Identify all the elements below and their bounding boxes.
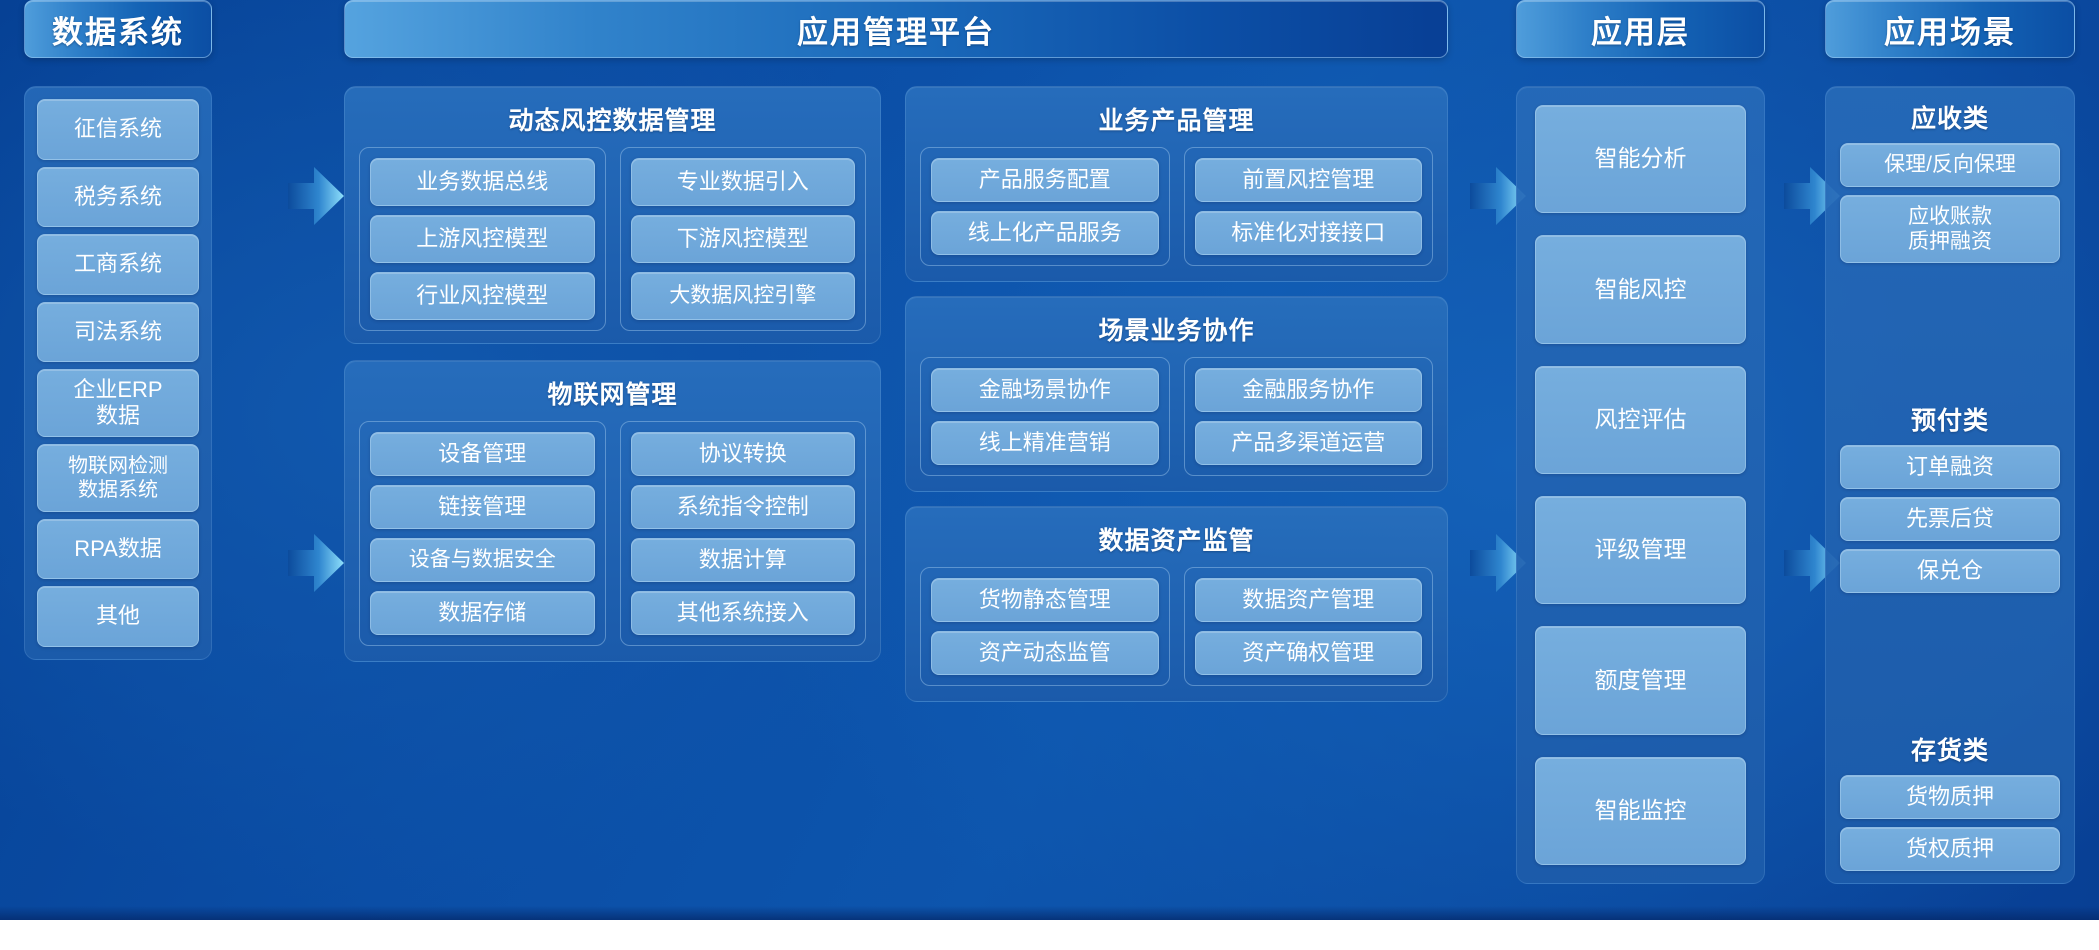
list-item[interactable]: 智能监控 <box>1535 757 1746 865</box>
list-item[interactable]: 产品服务配置 <box>931 158 1159 202</box>
list-item[interactable]: 保兑仓 <box>1840 549 2060 593</box>
list-item[interactable]: 系统指令控制 <box>631 485 856 529</box>
list-item[interactable]: 链接管理 <box>370 485 595 529</box>
module-group-right: 协议转换 系统指令控制 数据计算 其他系统接入 <box>620 421 867 646</box>
module-scenario-business-collaboration: 场景业务协作 金融场景协作 线上精准营销 金融服务协作 产品多渠道运营 <box>905 296 1448 492</box>
module-title: 数据资产监管 <box>920 521 1433 557</box>
scenario-section-inventory: 存货类 货物质押 货权质押 <box>1840 731 2060 871</box>
list-item[interactable]: 线上化产品服务 <box>931 211 1159 255</box>
architecture-diagram: 数据系统 征信系统 税务系统 工商系统 司法系统 企业ERP 数据 物联网检测 … <box>0 0 2099 920</box>
list-item[interactable]: 税务系统 <box>37 167 199 228</box>
list-item[interactable]: 货权质押 <box>1840 827 2060 871</box>
list-item[interactable]: 协议转换 <box>631 432 856 476</box>
list-item[interactable]: 行业风控模型 <box>370 272 595 320</box>
list-item[interactable]: RPA数据 <box>37 519 199 580</box>
list-item[interactable]: 订单融资 <box>1840 445 2060 489</box>
section-heading: 预付类 <box>1840 401 2060 437</box>
panel-data-systems: 征信系统 税务系统 工商系统 司法系统 企业ERP 数据 物联网检测 数据系统 … <box>24 86 212 660</box>
panel-scenarios: 应收类 保理/反向保理 应收账款 质押融资 预付类 订单融资 先票后贷 保兑仓 … <box>1825 86 2075 884</box>
list-item[interactable]: 标准化对接接口 <box>1195 211 1423 255</box>
list-item[interactable]: 资产确权管理 <box>1195 631 1423 675</box>
list-item[interactable]: 前置风控管理 <box>1195 158 1423 202</box>
column-scenarios: 应用场景 应收类 保理/反向保理 应收账款 质押融资 预付类 订单融资 先票后贷… <box>1825 0 2075 58</box>
list-item[interactable]: 业务数据总线 <box>370 158 595 206</box>
list-item[interactable]: 数据计算 <box>631 538 856 582</box>
module-group-left: 货物静态管理 资产动态监管 <box>920 567 1170 686</box>
list-item[interactable]: 专业数据引入 <box>631 158 856 206</box>
module-title: 场景业务协作 <box>920 311 1433 347</box>
banner-scenarios: 应用场景 <box>1825 0 2075 58</box>
list-item[interactable]: 智能分析 <box>1535 105 1746 213</box>
module-group-left: 设备管理 链接管理 设备与数据安全 数据存储 <box>359 421 606 646</box>
module-group-left: 金融场景协作 线上精准营销 <box>920 357 1170 476</box>
list-item[interactable]: 工商系统 <box>37 234 199 295</box>
banner-app-layer: 应用层 <box>1516 0 1765 58</box>
list-item[interactable]: 物联网检测 数据系统 <box>37 444 199 512</box>
column-app-layer: 应用层 智能分析 智能风控 风控评估 评级管理 额度管理 智能监控 <box>1516 0 1765 58</box>
module-title: 业务产品管理 <box>920 101 1433 137</box>
module-group-right: 数据资产管理 资产确权管理 <box>1184 567 1434 686</box>
list-item[interactable]: 大数据风控引擎 <box>631 272 856 320</box>
list-item[interactable]: 线上精准营销 <box>931 421 1159 465</box>
list-item[interactable]: 设备与数据安全 <box>370 538 595 582</box>
list-item[interactable]: 上游风控模型 <box>370 215 595 263</box>
list-item[interactable]: 数据存储 <box>370 591 595 635</box>
scenario-section-receivables: 应收类 保理/反向保理 应收账款 质押融资 <box>1840 99 2060 263</box>
panel-app-layer: 智能分析 智能风控 风控评估 评级管理 额度管理 智能监控 <box>1516 86 1765 884</box>
platform-left-stack: 动态风控数据管理 业务数据总线 上游风控模型 行业风控模型 专业数据引入 下游风… <box>344 86 881 662</box>
platform-right-stack: 业务产品管理 产品服务配置 线上化产品服务 前置风控管理 标准化对接接口 场景业… <box>905 86 1448 702</box>
arrow-data-to-platform-bottom <box>288 532 344 594</box>
module-group-right: 前置风控管理 标准化对接接口 <box>1184 147 1434 266</box>
list-item[interactable]: 额度管理 <box>1535 626 1746 734</box>
list-item[interactable]: 企业ERP 数据 <box>37 369 199 437</box>
list-item[interactable]: 金融服务协作 <box>1195 368 1423 412</box>
module-dynamic-risk-data-management: 动态风控数据管理 业务数据总线 上游风控模型 行业风控模型 专业数据引入 下游风… <box>344 86 881 344</box>
list-item[interactable]: 其他系统接入 <box>631 591 856 635</box>
list-item[interactable]: 下游风控模型 <box>631 215 856 263</box>
list-item[interactable]: 应收账款 质押融资 <box>1840 195 2060 263</box>
module-iot-management: 物联网管理 设备管理 链接管理 设备与数据安全 数据存储 协议转换 系统指令控制… <box>344 360 881 662</box>
list-item[interactable]: 资产动态监管 <box>931 631 1159 675</box>
banner-platform: 应用管理平台 <box>344 0 1448 58</box>
module-business-product-management: 业务产品管理 产品服务配置 线上化产品服务 前置风控管理 标准化对接接口 <box>905 86 1448 282</box>
list-item[interactable]: 司法系统 <box>37 302 199 363</box>
column-platform: 应用管理平台 动态风控数据管理 业务数据总线 上游风控模型 行业风控模型 专业数… <box>344 0 1448 58</box>
list-item[interactable]: 产品多渠道运营 <box>1195 421 1423 465</box>
column-data-systems: 数据系统 征信系统 税务系统 工商系统 司法系统 企业ERP 数据 物联网检测 … <box>24 0 212 58</box>
scenario-section-prepaid: 预付类 订单融资 先票后贷 保兑仓 <box>1840 401 2060 593</box>
list-item[interactable]: 设备管理 <box>370 432 595 476</box>
module-group-left: 产品服务配置 线上化产品服务 <box>920 147 1170 266</box>
arrow-data-to-platform-top <box>288 165 344 227</box>
list-item[interactable]: 货物质押 <box>1840 775 2060 819</box>
list-item[interactable]: 智能风控 <box>1535 235 1746 343</box>
module-group-right: 专业数据引入 下游风控模型 大数据风控引擎 <box>620 147 867 331</box>
banner-data-systems: 数据系统 <box>24 0 212 58</box>
list-item[interactable]: 风控评估 <box>1535 366 1746 474</box>
list-item[interactable]: 征信系统 <box>37 99 199 160</box>
list-item[interactable]: 金融场景协作 <box>931 368 1159 412</box>
module-title: 物联网管理 <box>359 375 866 411</box>
module-group-left: 业务数据总线 上游风控模型 行业风控模型 <box>359 147 606 331</box>
section-heading: 应收类 <box>1840 99 2060 135</box>
list-item[interactable]: 保理/反向保理 <box>1840 143 2060 187</box>
module-title: 动态风控数据管理 <box>359 101 866 137</box>
list-item[interactable]: 评级管理 <box>1535 496 1746 604</box>
list-item[interactable]: 数据资产管理 <box>1195 578 1423 622</box>
list-item[interactable]: 货物静态管理 <box>931 578 1159 622</box>
list-item[interactable]: 其他 <box>37 586 199 647</box>
module-group-right: 金融服务协作 产品多渠道运营 <box>1184 357 1434 476</box>
module-data-asset-supervision: 数据资产监管 货物静态管理 资产动态监管 数据资产管理 资产确权管理 <box>905 506 1448 702</box>
section-heading: 存货类 <box>1840 731 2060 767</box>
list-item[interactable]: 先票后贷 <box>1840 497 2060 541</box>
